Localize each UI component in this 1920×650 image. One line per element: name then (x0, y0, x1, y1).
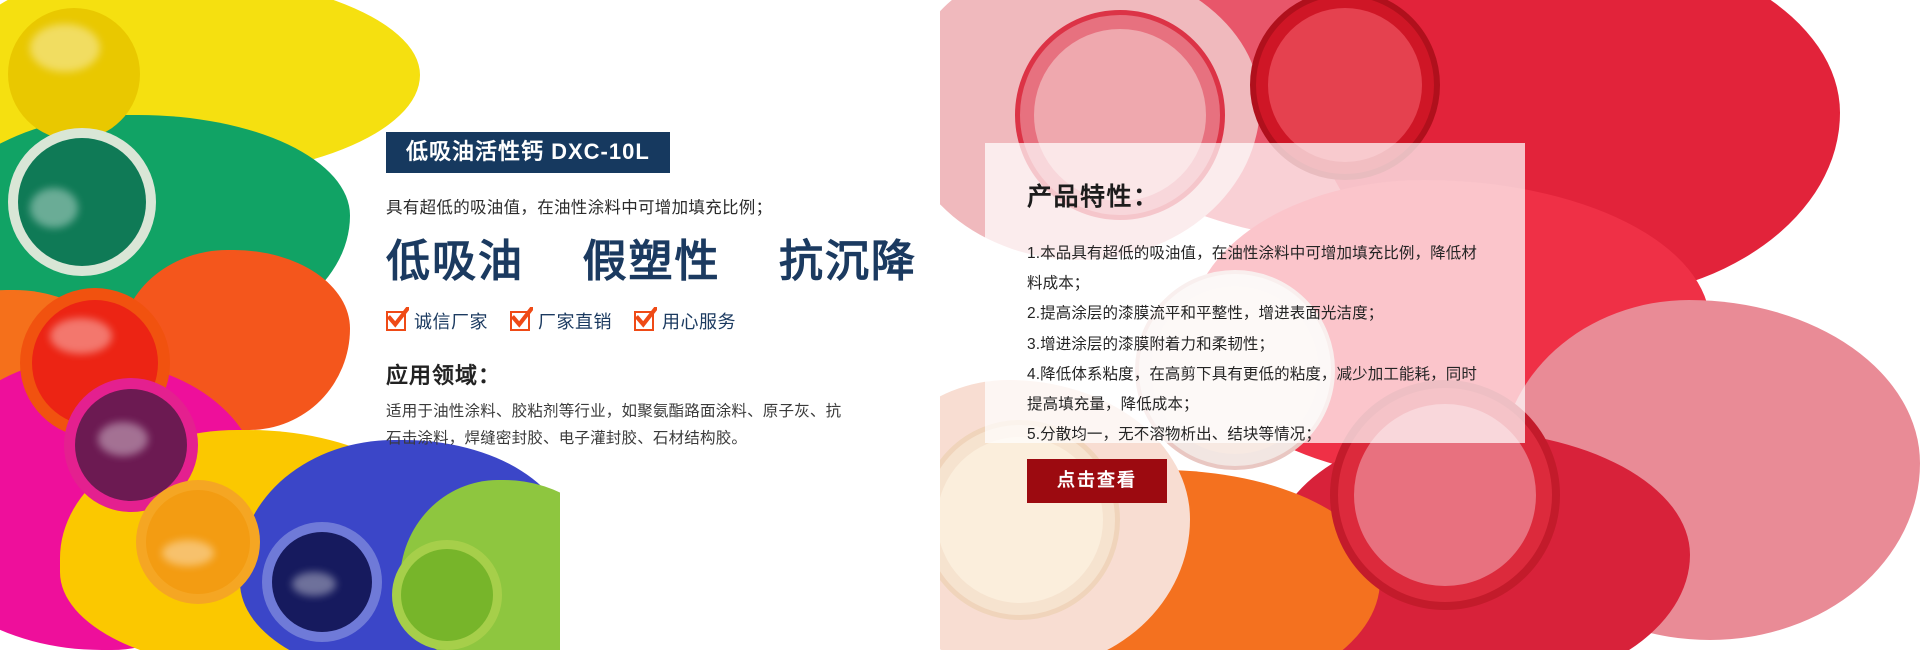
application-section-body: 适用于油性涂料、胶粘剂等行业，如聚氨酯路面涂料、原子灰、抗石击涂料，焊缝密封胶、… (386, 398, 856, 452)
feature-item-1: 诚信厂家 (386, 308, 488, 334)
feature-label-2: 厂家直销 (538, 308, 612, 334)
features-panel-title: 产品特性： (1027, 177, 1489, 213)
feature-list-item: 3.增进涂层的漆膜附着力和柔韧性； (1027, 330, 1489, 360)
product-banner: 低吸油活性钙 DXC-10L 具有超低的吸油值，在油性涂料中可增加填充比例； 低… (0, 0, 1920, 650)
headline-part-3: 抗沉降 (779, 237, 917, 286)
checkbox-checked-icon (634, 311, 654, 331)
application-section-title: 应用领域： (386, 358, 906, 390)
product-subtitle: 具有超低的吸油值，在油性涂料中可增加填充比例； (386, 197, 906, 220)
feature-list-item: 5.分散均一，无不溶物析出、结块等情况； (1027, 420, 1489, 450)
headline-part-2: 假塑性 (582, 237, 720, 286)
feature-list-item: 2.提高涂层的漆膜流平和平整性，增进表面光洁度； (1027, 299, 1489, 329)
trust-feature-row: 诚信厂家 厂家直销 用心服务 (386, 308, 906, 334)
paint-can-lime (392, 540, 502, 650)
product-features-panel: 产品特性： 1.本品具有超低的吸油值，在油性涂料中可增加填充比例，降低材料成本；… (985, 143, 1525, 443)
checkbox-checked-icon (386, 311, 406, 331)
feature-item-3: 用心服务 (634, 308, 736, 334)
paint-can-blue (262, 522, 382, 642)
view-details-button[interactable]: 点击查看 (1027, 459, 1167, 503)
paint-can-yellow (8, 8, 140, 140)
product-title-badge: 低吸油活性钙 DXC-10L (386, 132, 670, 173)
paint-can-green (8, 128, 156, 276)
feature-label-3: 用心服务 (662, 308, 736, 334)
feature-item-2: 厂家直销 (510, 308, 612, 334)
feature-list-item: 1.本品具有超低的吸油值，在油性涂料中可增加填充比例，降低材料成本； (1027, 239, 1489, 299)
left-content-column: 低吸油活性钙 DXC-10L 具有超低的吸油值，在油性涂料中可增加填充比例； 低… (386, 132, 906, 452)
feature-list-item: 4.降低体系粘度，在高剪下具有更低的粘度，减少加工能耗，同时提高填充量，降低成本… (1027, 360, 1489, 420)
feature-label-1: 诚信厂家 (414, 308, 488, 334)
headline-part-1: 低吸油 (386, 237, 524, 286)
features-list: 1.本品具有超低的吸油值，在油性涂料中可增加填充比例，降低材料成本； 2.提高涂… (1027, 239, 1489, 451)
paint-can-orange (136, 480, 260, 604)
checkbox-checked-icon (510, 311, 530, 331)
headline-keywords: 低吸油 假塑性 抗沉降 (386, 237, 906, 288)
